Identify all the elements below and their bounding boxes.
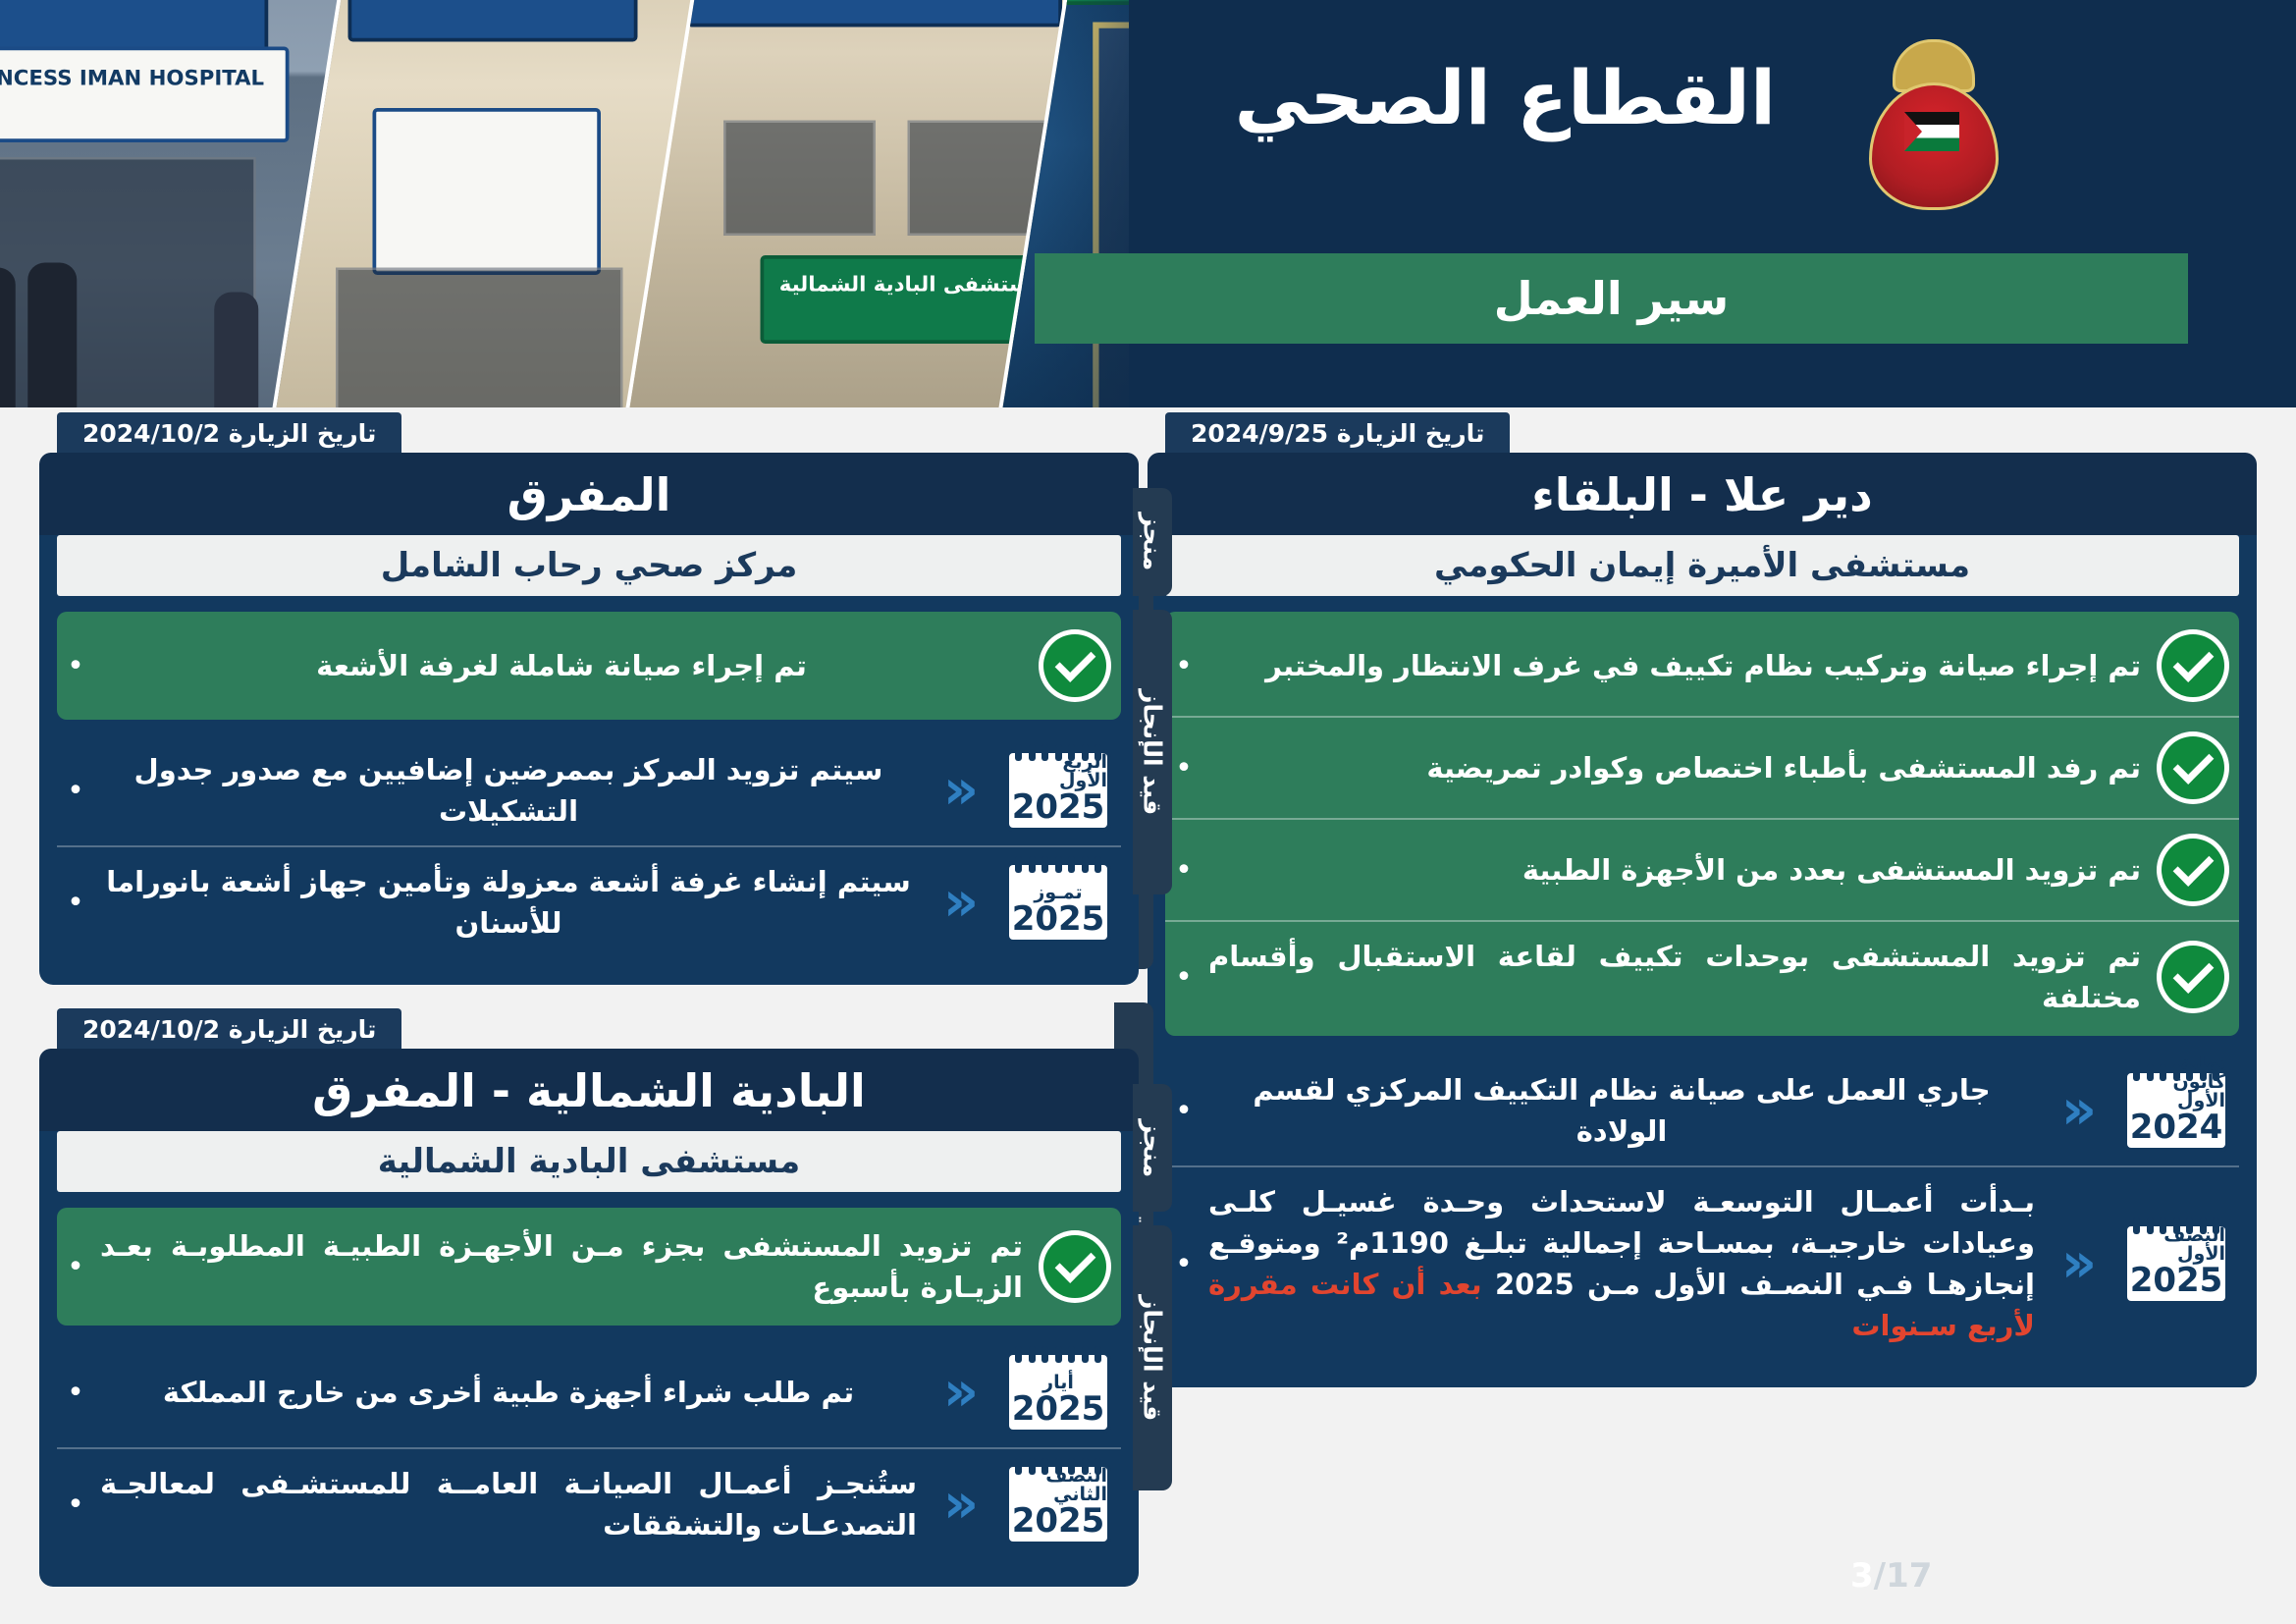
item-text: سيتم إنشاء غرفة أشعة معزولة وتأمين جهاز … [100,861,917,944]
card-northern-badya-mafraq: البادية الشمالية - المفرق مستشفى البادية… [39,1049,1139,1587]
calendar-icon: أيار 2025 [1005,1351,1111,1434]
left2-visit-date-row: تاريخ الزيارة 2024/10/2 [39,1008,1139,1051]
status-tab-done: منجز [1133,1084,1172,1212]
card-deir-alla-balqa: دير علا - البلقاء مستشفى الأميرة إيمان ا… [1148,453,2257,1387]
item-text: سيتم تزويد المركز بممرضين إضافيين مع صدو… [100,749,917,832]
left2-pending-block: أيار 2025 « تم طلب شراء أجهزة طبية أخرى … [57,1335,1121,1561]
chevron-left-icon: « [933,875,989,930]
chevron-left-icon: « [2051,1083,2108,1138]
page-number-separator: / [1874,1556,1886,1596]
bullet-icon: • [1175,1247,1193,1281]
check-icon [2157,731,2229,804]
bullet-icon: • [1175,1094,1193,1128]
header-photo-strip: PRINCESS IMAN HOSPITAL PRINCESS IMAN HOS… [0,0,1129,407]
bullet-icon: • [67,1376,84,1410]
card-title-left2: البادية الشمالية - المفرق [39,1049,1139,1131]
right-pending-block: نهاية كانون الأول 2024 « جاري العمل على … [1165,1054,2239,1362]
photo1-sign-main: PRINCESS IMAN HOSPITAL [0,47,290,143]
status-tab-done: منجز [1133,488,1172,596]
list-item: تم تزويد المستشفى بعدد من الأجهزة الطبية… [1165,818,2239,920]
item-text: تم طلب شراء أجهزة طبية أخرى من خارج المم… [100,1372,917,1413]
chevron-left-icon: « [933,1365,989,1420]
bullet-icon: • [67,1250,84,1284]
page-number: 3/17 [1850,1556,1932,1596]
photo3-sign-top: NORTHERN BADYA HOSPITAL [687,0,1063,27]
check-icon [2157,834,2229,906]
bullet-icon: • [67,774,84,808]
item-text: تم تزويد المستشفى بجزء مـن الأجهـزة الطب… [100,1225,1023,1308]
right-visit-date: تاريخ الزيارة 2024/9/25 [1165,412,1510,455]
section-ribbon-label: سير العمل [1494,272,1730,325]
calendar-icon: تمـوز 2025 [1005,861,1111,944]
list-item: نهاية كانون الأول 2024 « جاري العمل على … [1165,1056,2239,1165]
chevron-left-icon: « [933,763,989,818]
section-ribbon: سير العمل [1035,253,2188,344]
left1-done-block: تم إجراء صيانة شاملة لغرفة الأشعة • [57,612,1121,720]
item-text: ستُنجـز أعمـال الصيانـة العامــة للمستشـ… [100,1463,917,1545]
card-title-left1: المفرق [39,453,1139,535]
left-column: تاريخ الزيارة 2024/10/2 المفرق مركز صحي … [39,412,1139,1587]
check-icon [2157,629,2229,702]
list-item: تم إجراء صيانة وتركيب نظام تكييف في غرف … [1165,616,2239,716]
bullet-icon: • [1175,960,1193,995]
calendar-year: 2024 [2130,1110,2223,1144]
page-number-total: 17 [1886,1556,1932,1596]
status-tab-pending: قيد الإنجاز [1133,1225,1172,1490]
calendar-year: 2025 [2130,1264,2223,1297]
calendar-icon: نهاية كانون الأول 2024 [2123,1069,2229,1152]
item-text: تم تزويد المستشفى بوحدات تكييف لقاعة الا… [1208,936,2141,1018]
list-item: تم إجراء صيانة شاملة لغرفة الأشعة • [57,616,1121,716]
item-text: تم تزويد المستشفى بعدد من الأجهزة الطبية [1208,849,2141,891]
bullet-icon: • [67,649,84,683]
right-column: تاريخ الزيارة 2024/9/25 دير علا - البلقا… [1148,412,2257,1387]
list-item: الربع الأول 2025 « سيتم تزويد المركز بمم… [57,735,1121,845]
chevron-left-icon: « [2051,1236,2108,1291]
list-item: تم تزويد المستشفى بوحدات تكييف لقاعة الا… [1165,920,2239,1032]
list-item: النصف الأول 2025 « بـدأت أعمـال التوسعـة… [1165,1165,2239,1360]
calendar-year: 2025 [1012,902,1105,936]
bullet-icon: • [1175,649,1193,683]
check-icon [1039,1230,1111,1303]
calendar-icon: النصف الأول 2025 [2123,1222,2229,1305]
item-text: تم رفد المستشفى بأطباء اختصاص وكوادر تمر… [1208,747,2141,788]
calendar-year: 2025 [1012,1392,1105,1426]
item-text: تم إجراء صيانة شاملة لغرفة الأشعة [100,645,1023,686]
list-item: النصف الثاني 2025 « ستُنجـز أعمـال الصيا… [57,1447,1121,1559]
check-icon [2157,941,2229,1013]
list-item: تم رفد المستشفى بأطباء اختصاص وكوادر تمر… [1165,716,2239,818]
right-visit-date-row: تاريخ الزيارة 2024/9/25 [1148,412,2257,455]
card-subtitle-right: مستشفى الأميرة إيمان الحكومي [1165,535,2239,596]
item-text-group: بـدأت أعمـال التوسعـة لاستحداث وحـدة غسي… [1208,1181,2035,1346]
calendar-icon: الربع الأول 2025 [1005,749,1111,832]
page-title: القطاع الصحي [1235,54,1776,141]
list-item: أيار 2025 « تم طلب شراء أجهزة طبية أخرى … [57,1337,1121,1447]
item-text: جاري العمل على صيانة نظام التكييف المركز… [1208,1069,2035,1152]
right-done-block: تم إجراء صيانة وتركيب نظام تكييف في غرف … [1165,612,2239,1036]
calendar-label: نهاية كانون الأول [2127,1055,2225,1110]
left2-done-block: تم تزويد المستشفى بجزء مـن الأجهـزة الطب… [57,1208,1121,1326]
bullet-icon: • [67,886,84,920]
left2-visit-date: تاريخ الزيارة 2024/10/2 [57,1008,401,1051]
calendar-icon: النصف الثاني 2025 [1005,1463,1111,1545]
page-number-current: 3 [1850,1556,1874,1596]
bullet-icon: • [67,1488,84,1522]
left1-pending-block: الربع الأول 2025 « سيتم تزويد المركز بمم… [57,733,1121,959]
left1-visit-date: تاريخ الزيارة 2024/10/2 [57,412,401,455]
photo2-sign: مركز صحي رحاب الشامل [348,0,638,42]
list-item: تم تزويد المستشفى بجزء مـن الأجهـزة الطب… [57,1212,1121,1322]
bullet-icon: • [1175,853,1193,888]
card-subtitle-left1: مركز صحي رحاب الشامل [57,535,1121,596]
card-title-right: دير علا - البلقاء [1148,453,2257,535]
chevron-left-icon: « [933,1477,989,1532]
card-subtitle-left2: مستشفى البادية الشمالية [57,1131,1121,1192]
calendar-year: 2025 [1012,1504,1105,1538]
card-mafraq: المفرق مركز صحي رحاب الشامل تم إجراء صيا… [39,453,1139,985]
item-text: تم إجراء صيانة وتركيب نظام تكييف في غرف … [1208,645,2141,686]
status-tab-pending: قيد الإنجاز [1133,610,1172,894]
page-header: PRINCESS IMAN HOSPITAL PRINCESS IMAN HOS… [0,0,2296,407]
left1-visit-date-row: تاريخ الزيارة 2024/10/2 [39,412,1139,455]
bullet-icon: • [1175,751,1193,785]
list-item: تمـوز 2025 « سيتم إنشاء غرفة أشعة معزولة… [57,845,1121,957]
jordan-coat-of-arms-icon [1859,39,2002,216]
calendar-year: 2025 [1012,790,1105,824]
check-icon [1039,629,1111,702]
